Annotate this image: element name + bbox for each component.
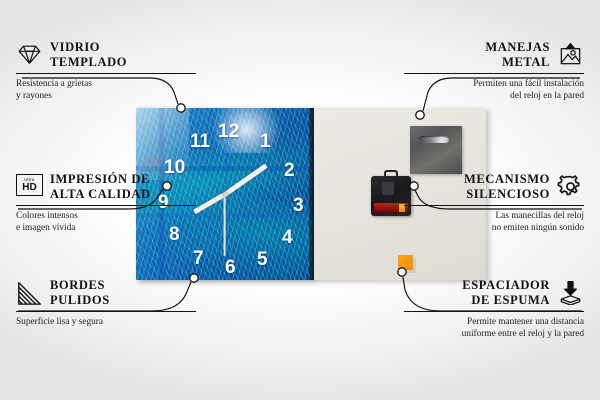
mechanism-hanging-tab xyxy=(384,170,398,178)
callout-desc-2: no emiten ningún sonido xyxy=(404,222,584,235)
callout-bordes-pulidos: BORDES PULIDOS Superficie lisa y segura xyxy=(16,278,196,328)
callout-title-2: ALTA CALIDAD xyxy=(50,187,151,202)
clock-numeral-2: 2 xyxy=(284,161,295,180)
callout-title: VIDRIO xyxy=(50,40,127,55)
clock-second-hand xyxy=(224,194,226,256)
callout-title-2: SILENCIOSO xyxy=(464,187,550,202)
hanger-slot xyxy=(419,136,449,143)
metal-hanger-plate xyxy=(410,126,462,174)
clock-numeral-4: 4 xyxy=(282,228,293,247)
callout-desc-2: y rayones xyxy=(16,90,196,103)
clock-center-cap xyxy=(223,192,228,197)
callout-title: MECANISMO xyxy=(464,172,550,187)
callout-title: IMPRESIÓN DE xyxy=(50,172,151,187)
callout-title: ESPACIADOR xyxy=(462,278,550,293)
callout-impresion-alta-calidad: ultra HD IMPRESIÓN DE ALTA CALIDAD Color… xyxy=(16,172,196,235)
callout-mecanismo-silencioso: MECANISMO SILENCIOSO Las manecillas del … xyxy=(404,172,584,235)
clock-numeral-11: 11 xyxy=(190,132,210,151)
callout-desc-1: Superficie lisa y segura xyxy=(16,312,196,329)
callout-title-2: METAL xyxy=(485,55,550,70)
foam-spacer xyxy=(398,255,413,270)
callout-desc-1: Permiten una fácil instalación xyxy=(404,74,584,91)
callout-espaciador-de-espuma: ESPACIADOR DE ESPUMA Permite mantener un… xyxy=(404,278,584,341)
callout-title-2: DE ESPUMA xyxy=(462,293,550,308)
callout-title: BORDES xyxy=(50,278,110,293)
diamond-icon xyxy=(16,42,43,67)
clock-numeral-3: 3 xyxy=(293,196,304,215)
callout-desc-1: Colores intensos xyxy=(16,206,196,223)
polished-edge-icon xyxy=(16,280,43,305)
callout-title: MANEJAS xyxy=(485,40,550,55)
callout-manejas-metal: MANEJAS METAL Permiten una fácil instala… xyxy=(404,40,584,103)
clock-numeral-1: 1 xyxy=(260,132,271,151)
callout-title-2: PULIDOS xyxy=(50,293,110,308)
clock-numeral-12: 12 xyxy=(218,122,239,141)
battery xyxy=(374,203,408,213)
clock-numeral-5: 5 xyxy=(257,250,268,269)
callout-desc-1: Las manecillas del reloj xyxy=(404,206,584,223)
callout-desc-2: del reloj en la pared xyxy=(404,90,584,103)
clock-numeral-7: 7 xyxy=(193,249,204,268)
picture-hanger-icon xyxy=(557,42,584,67)
mechanism-shaft xyxy=(382,182,394,195)
foam-spacer-icon xyxy=(557,280,584,305)
clock-numeral-6: 6 xyxy=(225,258,236,277)
callout-desc-1: Permite mantener una distancia xyxy=(404,312,584,329)
callout-title-2: TEMPLADO xyxy=(50,55,127,70)
gear-icon xyxy=(557,174,584,199)
callout-desc-2: e imagen vívida xyxy=(16,222,196,235)
callout-desc-1: Resistencia a grietas xyxy=(16,74,196,91)
callout-desc-2: uniforme entre el reloj y la pared xyxy=(404,328,584,341)
hd-badge-hd: HD xyxy=(22,183,36,193)
callout-vidrio-templado: VIDRIO TEMPLADO Resistencia a grietas y … xyxy=(16,40,196,103)
ultra-hd-badge-icon: ultra HD xyxy=(16,174,43,199)
